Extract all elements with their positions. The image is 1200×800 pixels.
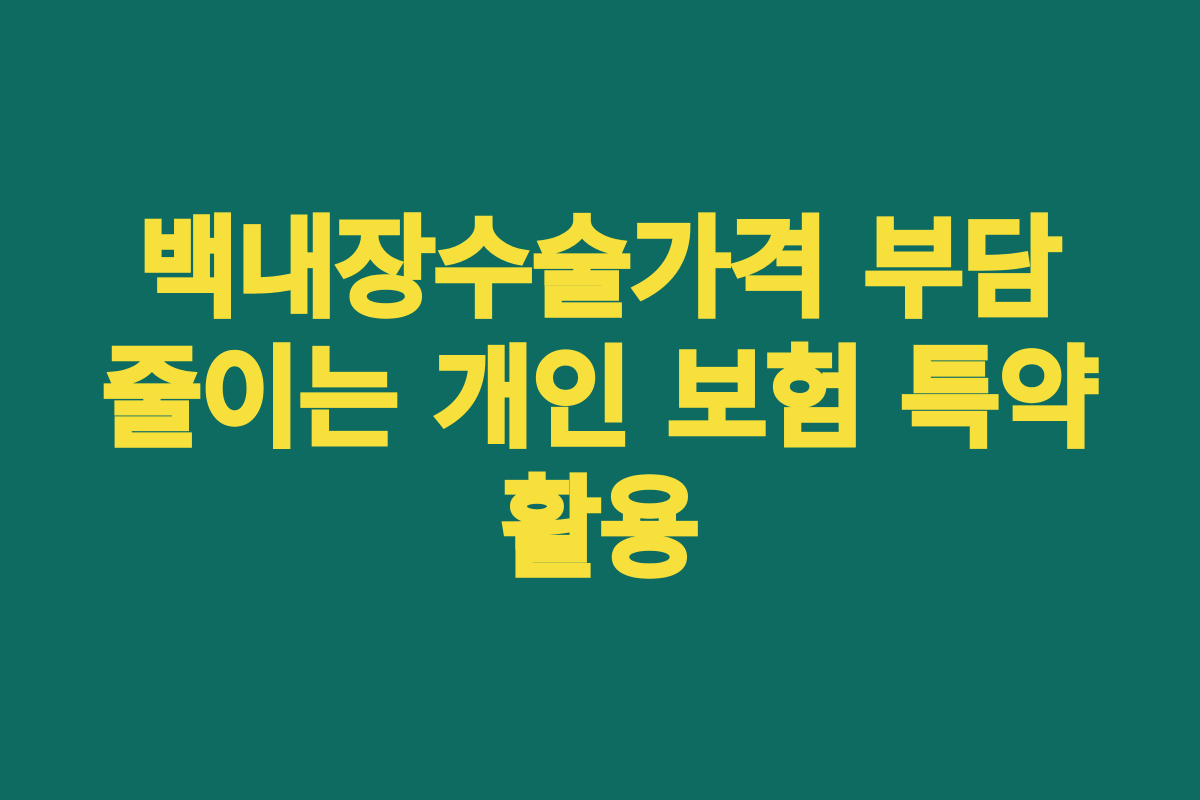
page-title: 백내장수술가격 부담 줄이는 개인 보험 특약 활용 xyxy=(95,205,1105,595)
thumbnail-card: 백내장수술가격 부담 줄이는 개인 보험 특약 활용 xyxy=(0,0,1200,800)
headline-block: 백내장수술가격 부담 줄이는 개인 보험 특약 활용 xyxy=(95,205,1105,595)
